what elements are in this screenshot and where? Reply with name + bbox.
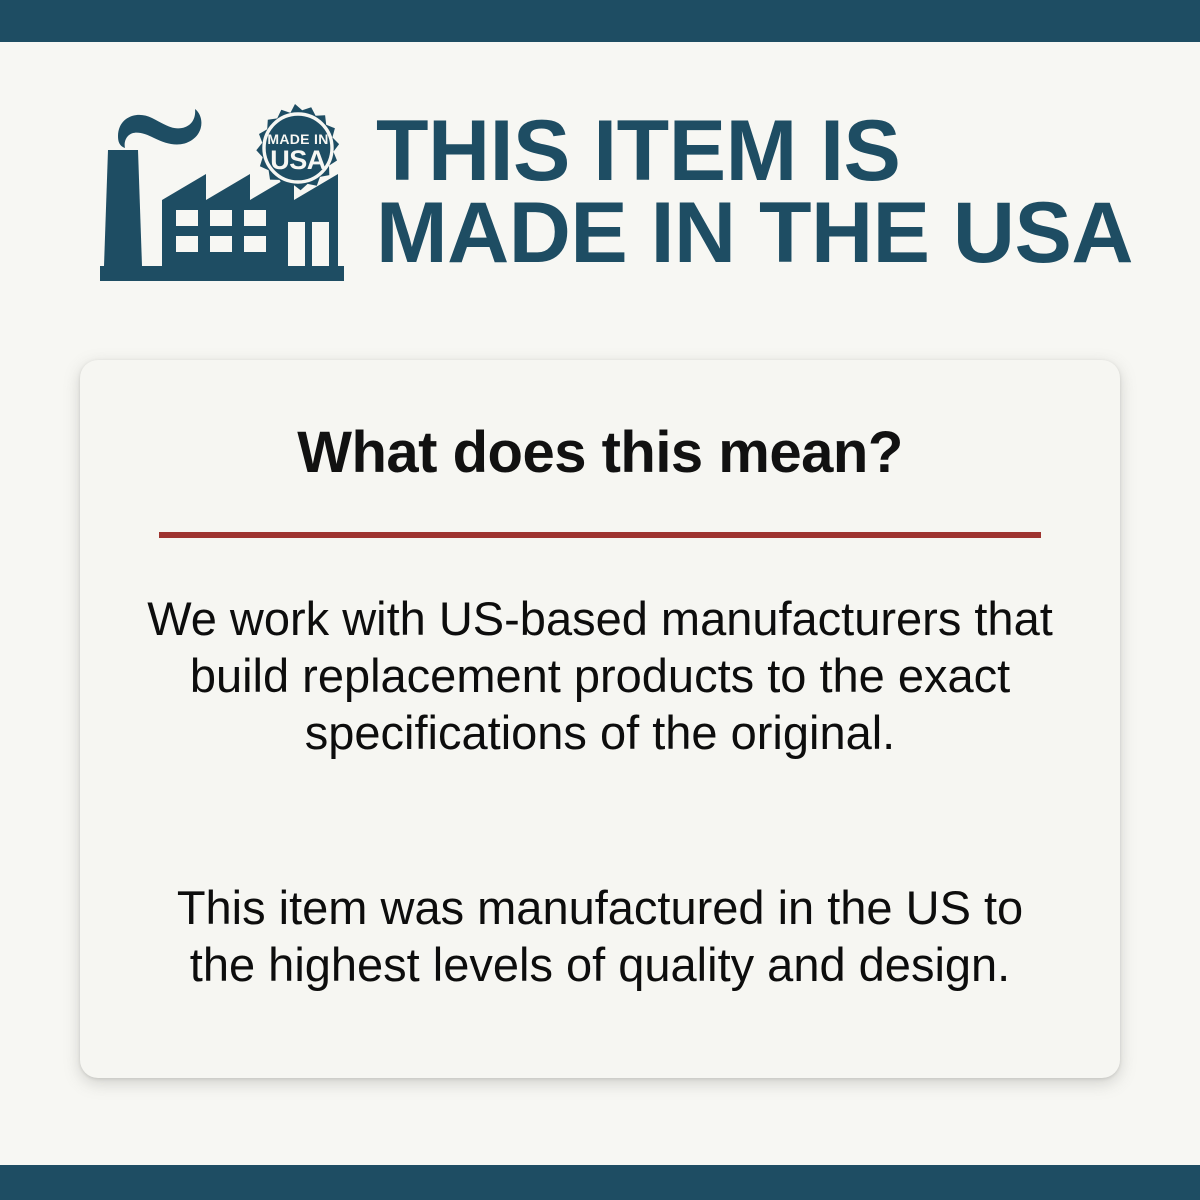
page-title-line-1: THIS ITEM IS: [376, 110, 1200, 192]
info-card: What does this mean? We work with US-bas…: [80, 360, 1120, 1078]
smokestack-icon: [104, 150, 142, 266]
top-accent-bar: [0, 0, 1200, 42]
smoke-plume-icon: [118, 109, 201, 148]
bottom-accent-bar: [0, 1165, 1200, 1200]
made-in-usa-badge-icon: MADE IN USA: [256, 104, 339, 190]
factory-base-icon: [100, 266, 344, 281]
header-title-block: THIS ITEM IS MADE IN THE USA: [376, 110, 1200, 274]
card-divider: [159, 532, 1041, 538]
factory-logo: MADE IN USA: [100, 100, 348, 285]
badge-line-2: USA: [270, 145, 326, 175]
card-heading: What does this mean?: [120, 360, 1080, 484]
page-title-line-2: MADE IN THE USA: [376, 192, 1200, 274]
header: MADE IN USA THIS ITEM IS MADE IN THE USA: [0, 42, 1200, 342]
card-paragraph-1: We work with US-based manufacturers that…: [120, 590, 1080, 761]
card-paragraph-2: This item was manufactured in the US to …: [120, 879, 1080, 993]
